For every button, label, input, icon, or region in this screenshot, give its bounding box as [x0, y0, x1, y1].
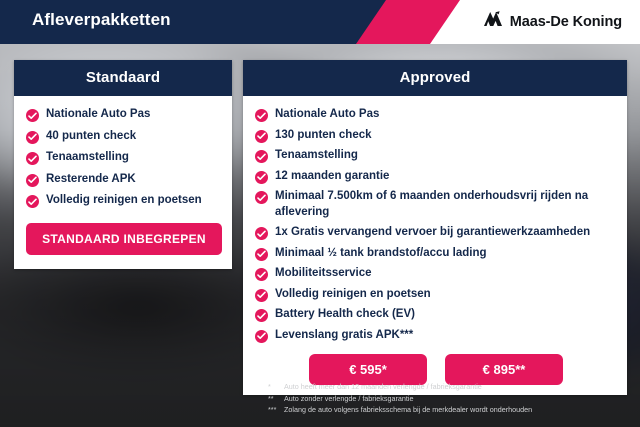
check-circle-icon — [26, 109, 39, 122]
check-circle-icon — [255, 150, 268, 163]
list-item-label: Nationale Auto Pas — [46, 107, 150, 123]
footnote-marker: * — [268, 381, 284, 393]
header-bar: Afleverpakketten Maas-De Koning — [0, 0, 640, 44]
list-item: 130 punten check — [255, 128, 617, 144]
footnote-text: Auto zonder verlengde / fabrieksgarantie — [284, 393, 628, 405]
check-circle-icon — [255, 268, 268, 281]
list-item-label: Resterende APK — [46, 172, 136, 188]
check-circle-icon — [255, 330, 268, 343]
approved-card-body: Nationale Auto Pas 130 punten check Tena… — [243, 96, 627, 395]
list-item-label: Tenaamstelling — [275, 148, 358, 164]
list-item: Levenslang gratis APK*** — [255, 328, 617, 344]
list-item-label: Volledig reinigen en poetsen — [275, 287, 431, 303]
footnote-text: Auto heeft meer dan 12 maanden verlengde… — [284, 381, 628, 393]
list-item: Minimaal 7.500km of 6 maanden onderhouds… — [255, 189, 617, 220]
list-item: Battery Health check (EV) — [255, 307, 617, 323]
list-item: Minimaal ½ tank brandstof/accu lading — [255, 246, 617, 262]
footnote-row: *** Zolang de auto volgens fabrieksschem… — [268, 404, 628, 416]
list-item-label: Levenslang gratis APK*** — [275, 328, 413, 344]
page-title: Afleverpakketten — [32, 10, 171, 30]
approved-feature-list: Nationale Auto Pas 130 punten check Tena… — [255, 107, 617, 343]
list-item-label: 12 maanden garantie — [275, 169, 389, 185]
check-circle-icon — [255, 309, 268, 322]
list-item: Volledig reinigen en poetsen — [26, 193, 222, 209]
list-item: Nationale Auto Pas — [255, 107, 617, 123]
list-item: Nationale Auto Pas — [26, 107, 222, 123]
footnote-marker: *** — [268, 404, 284, 416]
check-circle-icon — [26, 195, 39, 208]
list-item-label: Battery Health check (EV) — [275, 307, 415, 323]
footnote-row: * Auto heeft meer dan 12 maanden verleng… — [268, 381, 628, 393]
approved-card: Approved Nationale Auto Pas 130 punten c… — [243, 60, 627, 395]
list-item-label: Volledig reinigen en poetsen — [46, 193, 202, 209]
brand-name: Maas-De Koning — [510, 14, 622, 30]
standaard-card: Standaard Nationale Auto Pas 40 punten c… — [14, 60, 232, 269]
list-item: Volledig reinigen en poetsen — [255, 287, 617, 303]
list-item-label: Minimaal ½ tank brandstof/accu lading — [275, 246, 487, 262]
check-circle-icon — [255, 171, 268, 184]
check-circle-icon — [255, 130, 268, 143]
list-item: Tenaamstelling — [26, 150, 222, 166]
standaard-card-heading: Standaard — [14, 60, 232, 96]
footnote-text: Zolang de auto volgens fabrieksschema bi… — [284, 404, 628, 416]
check-circle-icon — [255, 289, 268, 302]
list-item-label: Tenaamstelling — [46, 150, 129, 166]
list-item: 40 punten check — [26, 129, 222, 145]
list-item: 1x Gratis vervangend vervoer bij garanti… — [255, 225, 617, 241]
list-item-label: 1x Gratis vervangend vervoer bij garanti… — [275, 225, 590, 241]
check-circle-icon — [255, 109, 268, 122]
list-item: Mobiliteitsservice — [255, 266, 617, 282]
check-circle-icon — [26, 174, 39, 187]
list-item-label: Minimaal 7.500km of 6 maanden onderhouds… — [275, 189, 617, 220]
list-item-label: 130 punten check — [275, 128, 372, 144]
footnotes-block: * Auto heeft meer dan 12 maanden verleng… — [268, 381, 628, 416]
list-item-label: Mobiliteitsservice — [275, 266, 372, 282]
standaard-feature-list: Nationale Auto Pas 40 punten check Tenaa… — [26, 107, 222, 209]
standaard-inbegrepen-button[interactable]: STANDAARD INBEGREPEN — [26, 223, 222, 255]
check-circle-icon — [255, 191, 268, 204]
list-item: Resterende APK — [26, 172, 222, 188]
check-circle-icon — [26, 131, 39, 144]
list-item-label: Nationale Auto Pas — [275, 107, 379, 123]
list-item: 12 maanden garantie — [255, 169, 617, 185]
brand-logo: Maas-De Koning — [483, 11, 622, 32]
footnote-row: ** Auto zonder verlengde / fabrieksgaran… — [268, 393, 628, 405]
slide-root: Afleverpakketten Maas-De Koning Standaar… — [0, 0, 640, 427]
check-circle-icon — [255, 227, 268, 240]
list-item: Tenaamstelling — [255, 148, 617, 164]
list-item-label: 40 punten check — [46, 129, 136, 145]
maas-de-koning-mark-icon — [483, 11, 503, 32]
check-circle-icon — [26, 152, 39, 165]
check-circle-icon — [255, 248, 268, 261]
standaard-card-body: Nationale Auto Pas 40 punten check Tenaa… — [14, 96, 232, 269]
approved-card-heading: Approved — [243, 60, 627, 96]
footnote-marker: ** — [268, 393, 284, 405]
